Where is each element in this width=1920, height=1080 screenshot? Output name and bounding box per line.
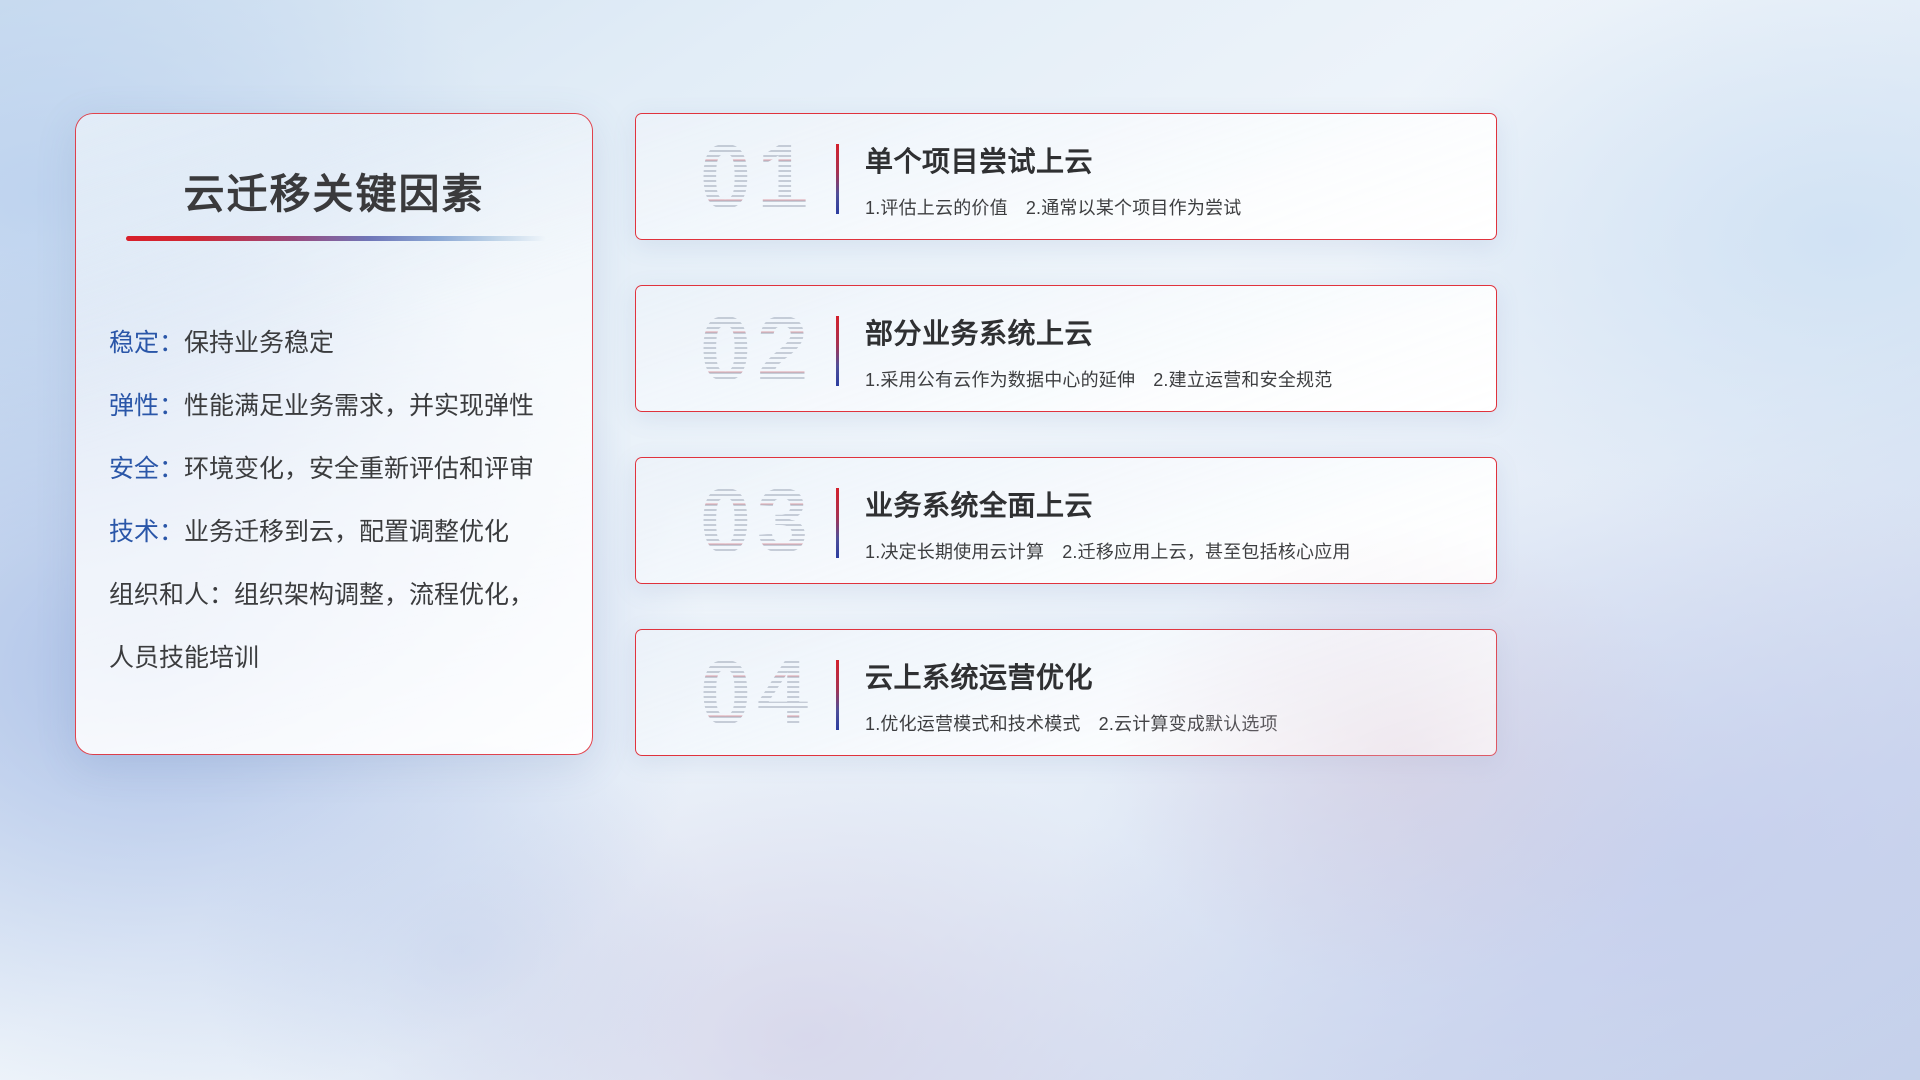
factor-value: 保持业务稳定 <box>184 329 334 357</box>
key-factors-panel: 云迁移关键因素 稳定：保持业务稳定 弹性：性能满足业务需求，并实现弹性 安全：环… <box>75 113 593 755</box>
factor-value: 业务迁移到云，配置调整优化 <box>184 518 509 546</box>
stage-card-04[interactable]: 04 04 云上系统运营优化 1.优化运营模式和技术模式2.云计算变成默认选项 <box>635 629 1497 756</box>
stage-point-1: 1.优化运营模式和技术模式 <box>865 714 1081 734</box>
stage-number-04: 04 <box>664 641 850 745</box>
factor-key: 组织和人： <box>109 581 234 609</box>
stage-divider-icon <box>836 144 839 214</box>
factor-key: 稳定： <box>109 329 184 357</box>
panel-title: 云迁移关键因素 <box>76 160 592 220</box>
factor-value: 环境变化，安全重新评估和评审 <box>184 455 534 483</box>
stage-description: 1.评估上云的价值2.通常以某个项目作为尝试 <box>865 194 1476 220</box>
factor-value: 性能满足业务需求，并实现弹性 <box>184 392 534 420</box>
stage-description: 1.决定长期使用云计算2.迁移应用上云，甚至包括核心应用 <box>865 538 1476 564</box>
stage-title: 部分业务系统上云 <box>865 312 1476 352</box>
stage-description: 1.优化运营模式和技术模式2.云计算变成默认选项 <box>865 710 1476 736</box>
title-underline-rule <box>126 236 546 241</box>
stage-card-body: 云上系统运营优化 1.优化运营模式和技术模式2.云计算变成默认选项 <box>865 656 1476 736</box>
stage-number-02: 02 <box>664 297 850 401</box>
factor-key: 安全： <box>109 455 184 483</box>
stage-card-01[interactable]: 01 01 单个项目尝试上云 1.评估上云的价值2.通常以某个项目作为尝试 <box>635 113 1497 240</box>
stage-divider-icon <box>836 660 839 730</box>
factor-key: 技术： <box>109 518 184 546</box>
stage-point-1: 1.决定长期使用云计算 <box>865 542 1044 562</box>
factor-value: 组织架构调整，流程优化， <box>234 581 534 609</box>
factor-item-elasticity: 弹性：性能满足业务需求，并实现弹性 <box>109 375 570 438</box>
stage-point-1: 1.评估上云的价值 <box>865 198 1008 218</box>
stage-description: 1.采用公有云作为数据中心的延伸2.建立运营和安全规范 <box>865 366 1476 392</box>
stage-card-body: 业务系统全面上云 1.决定长期使用云计算2.迁移应用上云，甚至包括核心应用 <box>865 484 1476 564</box>
stage-card-body: 部分业务系统上云 1.采用公有云作为数据中心的延伸2.建立运营和安全规范 <box>865 312 1476 392</box>
factor-key: 弹性： <box>109 392 184 420</box>
stage-card-02[interactable]: 02 02 部分业务系统上云 1.采用公有云作为数据中心的延伸2.建立运营和安全… <box>635 285 1497 412</box>
stage-point-2: 2.通常以某个项目作为尝试 <box>1026 198 1242 218</box>
stage-number-01: 01 <box>664 125 850 229</box>
factor-item-technology: 技术：业务迁移到云，配置调整优化 <box>109 501 570 564</box>
factor-item-organization-continued: 人员技能培训 <box>109 627 570 690</box>
factor-item-stability: 稳定：保持业务稳定 <box>109 312 570 375</box>
stage-point-2: 2.云计算变成默认选项 <box>1099 714 1278 734</box>
stage-point-1: 1.采用公有云作为数据中心的延伸 <box>865 370 1135 390</box>
stage-point-2: 2.建立运营和安全规范 <box>1153 370 1332 390</box>
factor-item-security: 安全：环境变化，安全重新评估和评审 <box>109 438 570 501</box>
stage-card-list: 01 01 单个项目尝试上云 1.评估上云的价值2.通常以某个项目作为尝试 02… <box>635 113 1497 801</box>
stage-point-2: 2.迁移应用上云，甚至包括核心应用 <box>1062 542 1350 562</box>
stage-title: 业务系统全面上云 <box>865 484 1476 524</box>
factor-item-organization: 组织和人：组织架构调整，流程优化， <box>109 564 570 627</box>
slide-canvas: 云迁移关键因素 稳定：保持业务稳定 弹性：性能满足业务需求，并实现弹性 安全：环… <box>0 0 1920 1080</box>
stage-number-03: 03 <box>664 469 850 573</box>
factor-list: 稳定：保持业务稳定 弹性：性能满足业务需求，并实现弹性 安全：环境变化，安全重新… <box>109 312 570 690</box>
stage-card-body: 单个项目尝试上云 1.评估上云的价值2.通常以某个项目作为尝试 <box>865 140 1476 220</box>
stage-title: 云上系统运营优化 <box>865 656 1476 696</box>
stage-divider-icon <box>836 316 839 386</box>
stage-title: 单个项目尝试上云 <box>865 140 1476 180</box>
stage-divider-icon <box>836 488 839 558</box>
stage-card-03[interactable]: 03 03 业务系统全面上云 1.决定长期使用云计算2.迁移应用上云，甚至包括核… <box>635 457 1497 584</box>
